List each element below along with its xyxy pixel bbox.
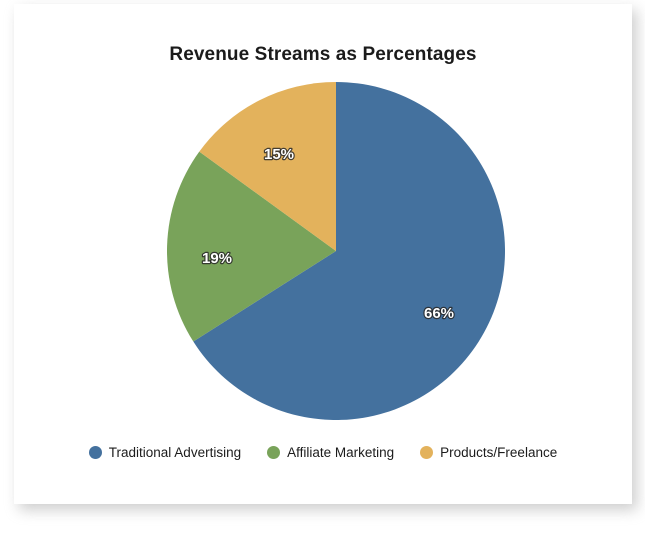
legend-item-label: Products/Freelance [440, 445, 557, 460]
legend-item-label: Affiliate Marketing [287, 445, 394, 460]
legend-item-label: Traditional Advertising [109, 445, 241, 460]
pie-chart-area: 66%19%15% [14, 4, 632, 444]
legend-swatch-icon [89, 446, 102, 459]
pie-slice-label: 66% [424, 305, 454, 322]
pie-slice-label: 19% [202, 250, 232, 267]
legend-item-affiliate-marketing[interactable]: Affiliate Marketing [267, 445, 394, 460]
legend-item-products-freelance[interactable]: Products/Freelance [420, 445, 557, 460]
chart-legend: Traditional Advertising Affiliate Market… [14, 445, 632, 460]
pie-chart-svg: 66%19%15% [14, 4, 632, 444]
pie-slice-label: 15% [264, 146, 294, 163]
legend-swatch-icon [267, 446, 280, 459]
legend-swatch-icon [420, 446, 433, 459]
legend-item-traditional-advertising[interactable]: Traditional Advertising [89, 445, 241, 460]
chart-card: Revenue Streams as Percentages 66%19%15%… [14, 4, 632, 504]
